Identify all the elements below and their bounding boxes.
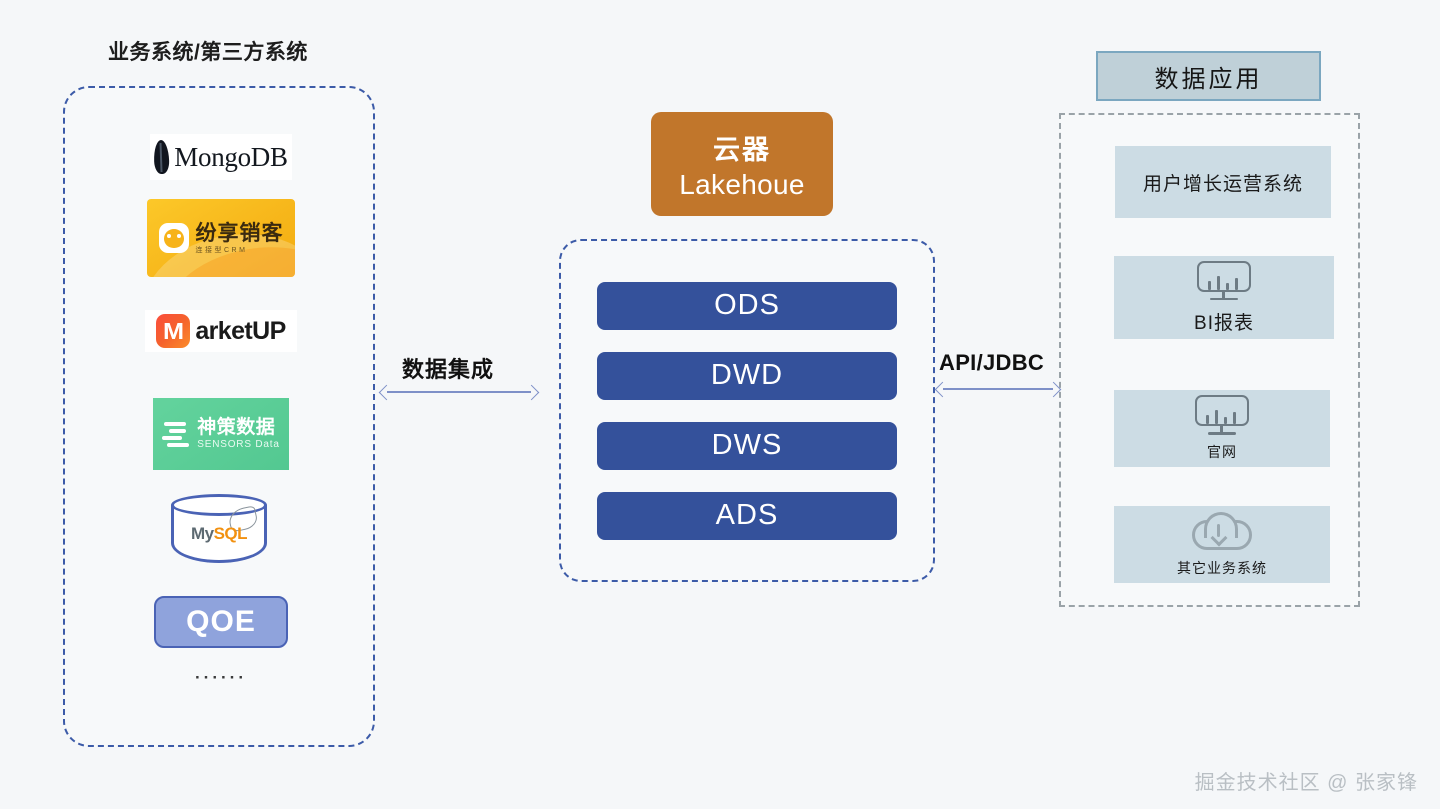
layer-ads-label: ADS [716,499,779,532]
layer-dws-label: DWS [712,429,783,462]
lakehouse-brand-box[interactable]: 云器 Lakehoue [651,112,833,216]
lakehouse-brand-en: Lakehoue [679,169,804,201]
source-item-sensorsdata[interactable]: 神策数据 SENSORS Data [65,398,377,470]
layer-ads[interactable]: ADS [597,492,897,540]
app-card-official-site[interactable]: 官网 [1114,390,1330,467]
marketup-m-icon: M [156,314,190,348]
source-systems-container: MongoDB 纷享销客 连接型CRM M arketUP [63,86,375,747]
source-ellipsis-wrap: ······ [65,668,377,688]
mongodb-leaf-icon [154,140,170,175]
source-item-mysql[interactable]: MySQL [65,494,377,578]
lakehouse-brand-cn: 云器 [713,128,771,167]
source-item-marketup[interactable]: M arketUP [65,310,377,352]
sensorsdata-label: 神策数据 [197,418,279,437]
layer-dwd[interactable]: DWD [597,352,897,400]
mysql-label: MySQL [171,524,267,544]
source-section-title: 业务系统/第三方系统 [108,36,308,66]
marketup-label: arketUP [195,317,285,346]
app-systems-container: 用户增长运营系统 BI报表 官网 [1059,113,1360,607]
mongodb-logo: MongoDB [150,134,292,180]
fenxiangxiaoke-label: 纷享销客 [196,223,284,244]
cloud-download-icon [1188,512,1256,554]
app-card-user-growth[interactable]: 用户增长运营系统 [1115,146,1331,218]
lakehouse-layers-container: ODS DWD DWS ADS [559,239,935,582]
app-card-user-growth-label: 用户增长运营系统 [1143,169,1303,196]
diagram-canvas: 业务系统/第三方系统 MongoDB 纷享销客 连接型CRM [0,0,1440,809]
app-section-title-box: 数据应用 [1096,51,1321,101]
mongodb-label: MongoDB [174,142,287,173]
app-card-bi-report-label: BI报表 [1194,308,1254,335]
sensorsdata-logo: 神策数据 SENSORS Data [153,398,289,470]
marketup-logo: M arketUP [145,310,297,352]
app-card-bi-report[interactable]: BI报表 [1114,256,1334,339]
app-card-official-site-label: 官网 [1207,442,1237,462]
layer-ods[interactable]: ODS [597,282,897,330]
connector-right-arrow [936,382,1060,396]
layer-dws[interactable]: DWS [597,422,897,470]
fenxiangxiaoke-mascot-icon [159,223,189,253]
source-ellipsis: ······ [195,668,247,688]
qoe-label: QOE [186,605,256,639]
layer-dwd-label: DWD [711,359,783,392]
watermark: 掘金技术社区 @ 张家锋 [1195,766,1418,795]
connector-right-label: API/JDBC [939,350,1044,376]
qoe-logo: QOE [154,596,288,648]
monitor-chart-icon [1195,395,1249,437]
fenxiangxiaoke-sublabel: 连接型CRM [196,247,284,254]
app-section-title: 数据应用 [1155,59,1263,94]
connector-left-arrow [380,385,538,399]
mysql-logo: MySQL [171,494,271,578]
app-card-other-systems-label: 其它业务系统 [1177,558,1267,578]
source-item-fenxiangxiaoke[interactable]: 纷享销客 连接型CRM [65,199,377,277]
sensorsdata-dashes-icon [162,419,190,449]
monitor-chart-icon [1197,261,1251,303]
layer-ods-label: ODS [714,289,780,322]
app-card-other-systems[interactable]: 其它业务系统 [1114,506,1330,583]
source-item-qoe[interactable]: QOE [65,596,377,648]
fenxiangxiaoke-logo: 纷享销客 连接型CRM [147,199,295,277]
source-item-mongodb[interactable]: MongoDB [65,134,377,180]
connector-left-label: 数据集成 [402,352,494,384]
sensorsdata-sublabel: SENSORS Data [197,440,279,450]
